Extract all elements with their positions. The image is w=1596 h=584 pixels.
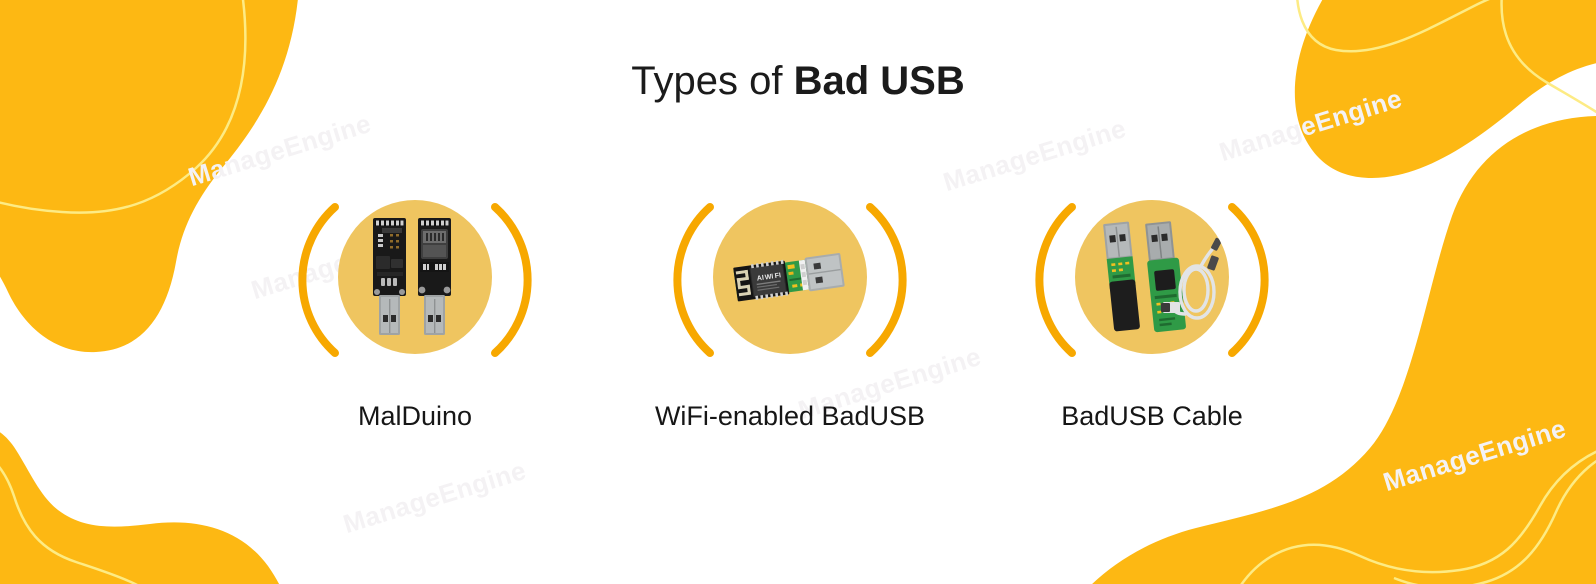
item-label: WiFi-enabled BadUSB [620,401,960,432]
item-label: BadUSB Cable [982,401,1322,432]
item-badusb-cable[interactable]: BadUSB Cable [1022,185,1282,450]
item-row: MalDuino [0,0,1596,584]
badge [285,185,545,375]
bracket-arcs-icon [285,185,545,375]
item-wifi-enabled-badusb[interactable]: AI WI FI [660,185,920,450]
item-label: MalDuino [245,401,585,432]
item-malduino[interactable]: MalDuino [285,185,545,450]
bracket-arcs-icon [1022,185,1282,375]
badge [1022,185,1282,375]
bracket-arcs-icon [660,185,920,375]
slide-canvas: ManageEngine ManageEngine ManageEngine M… [0,0,1596,584]
badge: AI WI FI [660,185,920,375]
